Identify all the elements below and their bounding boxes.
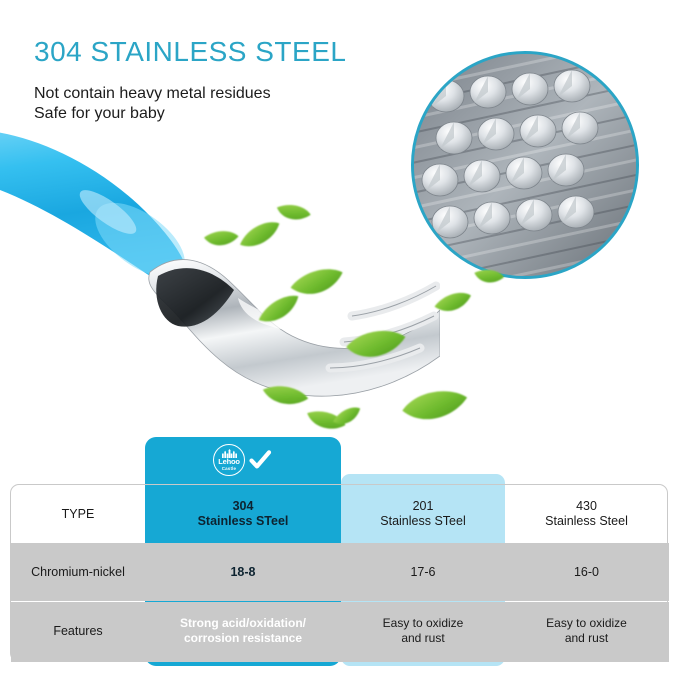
table-cell-430-chromium: 16-0: [505, 543, 668, 601]
table-cell-304-type: 304 Stainless STeel: [145, 485, 341, 543]
cell-line-1: 201: [413, 499, 434, 514]
table-cell-304-chromium: 18-8: [145, 543, 341, 601]
cell-line-1: 16-0: [574, 565, 599, 580]
table-cell-304-features: Strong acid/oxidation/ corrosion resista…: [145, 601, 341, 661]
table-cell-430-type: 430 Stainless Steel: [505, 485, 668, 543]
table-cell-201-features: Easy to oxidize and rust: [341, 601, 505, 661]
cell-line-1: 18-8: [230, 565, 255, 580]
brand-badge: Lehoo Castle: [213, 443, 275, 477]
cell-line-1: Easy to oxidize: [546, 616, 627, 631]
leaf-art: [0, 120, 560, 440]
row-label-type: TYPE: [62, 507, 95, 522]
page-title: 304 STAINLESS STEEL: [34, 36, 346, 68]
cell-line-1: Strong acid/oxidation/: [180, 616, 306, 631]
table-cell-201-chromium: 17-6: [341, 543, 505, 601]
row-label-features: Features: [53, 624, 102, 639]
cell-line-2: corrosion resistance: [184, 631, 302, 646]
cell-line-1: 304: [233, 499, 254, 514]
table-row-label: Features: [11, 601, 145, 661]
page-subtitle: Not contain heavy metal residues Safe fo…: [34, 84, 271, 124]
cell-line-2: Stainless Steel: [545, 514, 628, 529]
cell-line-1: 17-6: [410, 565, 435, 580]
floating-leaves: [0, 120, 560, 440]
subtitle-line-1: Not contain heavy metal residues: [34, 84, 271, 104]
lehoo-castle-logo: Lehoo Castle: [213, 444, 245, 476]
table-cell-201-type: 201 Stainless STeel: [341, 485, 505, 543]
table-row-label: Chromium-nickel: [11, 543, 145, 601]
cell-line-2: Stainless STeel: [198, 514, 289, 529]
cell-line-2: and rust: [401, 631, 444, 646]
row-label-chromium-nickel: Chromium-nickel: [31, 565, 125, 580]
check-icon: [248, 448, 272, 472]
cell-line-1: 430: [576, 499, 597, 514]
cell-line-2: Stainless STeel: [380, 514, 465, 529]
logo-brand-sub: Castle: [222, 466, 236, 471]
cell-line-1: Easy to oxidize: [383, 616, 464, 631]
table-cell-430-features: Easy to oxidize and rust: [505, 601, 668, 661]
cell-line-2: and rust: [565, 631, 608, 646]
infographic-page: 304 STAINLESS STEEL Not contain heavy me…: [0, 0, 679, 679]
table-row-label: TYPE: [11, 485, 145, 543]
logo-brand-name: Lehoo: [218, 458, 240, 466]
